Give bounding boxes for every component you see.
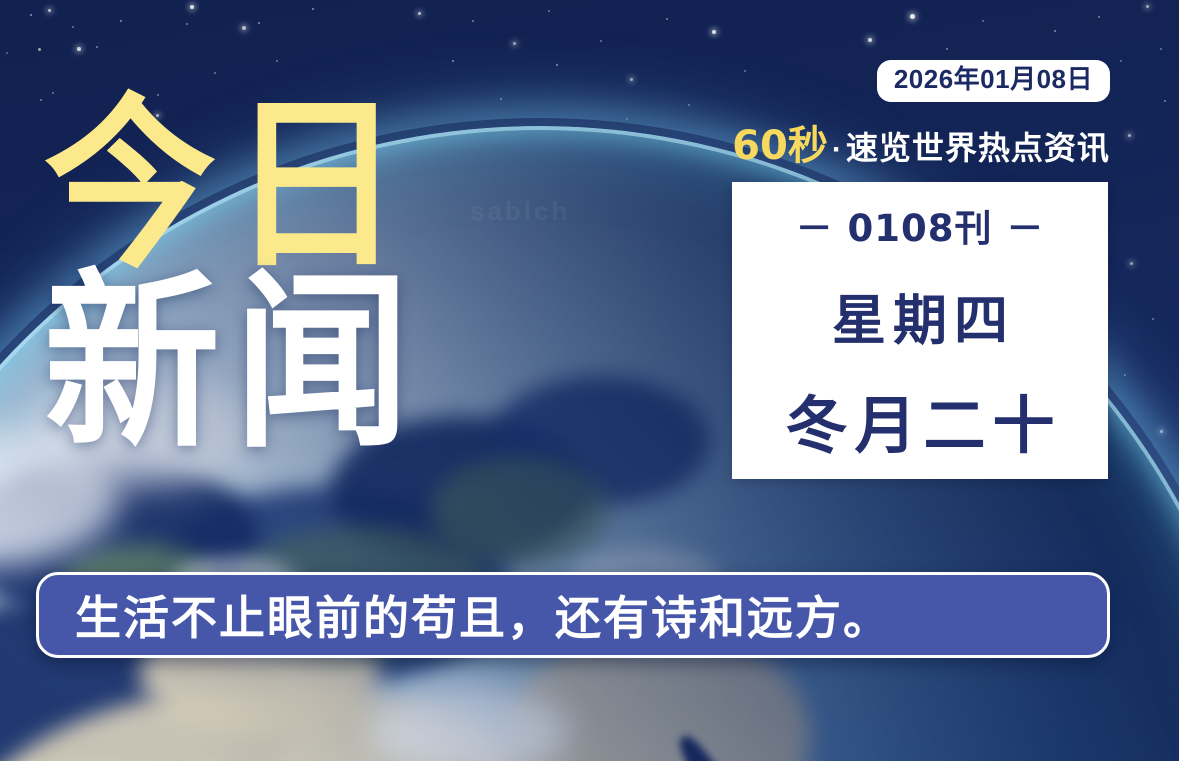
title-line-today: 今日: [44, 96, 424, 274]
right-column: 2026年01月08日 60秒·速览世界热点资讯 － 0108刊 － 星期四 冬…: [732, 60, 1110, 479]
weekday-label: 星期四: [732, 276, 1108, 355]
title-line-news: 新闻: [44, 273, 424, 455]
quote-banner: 生活不止眼前的苟且，还有诗和远方。: [36, 572, 1110, 658]
info-card: － 0108刊 － 星期四 冬月二十: [732, 182, 1108, 479]
date-badge: 2026年01月08日: [877, 60, 1110, 102]
poster-title: 今日 新闻: [44, 96, 424, 442]
news-poster: sablch 今日 新闻 2026年01月08日 60秒·速览世界热点资讯 － …: [0, 0, 1179, 761]
tagline: 60秒·速览世界热点资讯: [732, 102, 1110, 166]
tagline-description: 速览世界热点资讯: [846, 129, 1110, 167]
tagline-separator: ·: [828, 133, 846, 166]
lunar-date-label: 冬月二十: [732, 375, 1108, 465]
issue-number: － 0108刊 －: [732, 198, 1108, 252]
tagline-seconds: 60秒: [732, 123, 828, 169]
background-watermark: sablch: [470, 196, 570, 227]
quote-text: 生活不止眼前的苟且，还有诗和远方。: [75, 582, 891, 648]
